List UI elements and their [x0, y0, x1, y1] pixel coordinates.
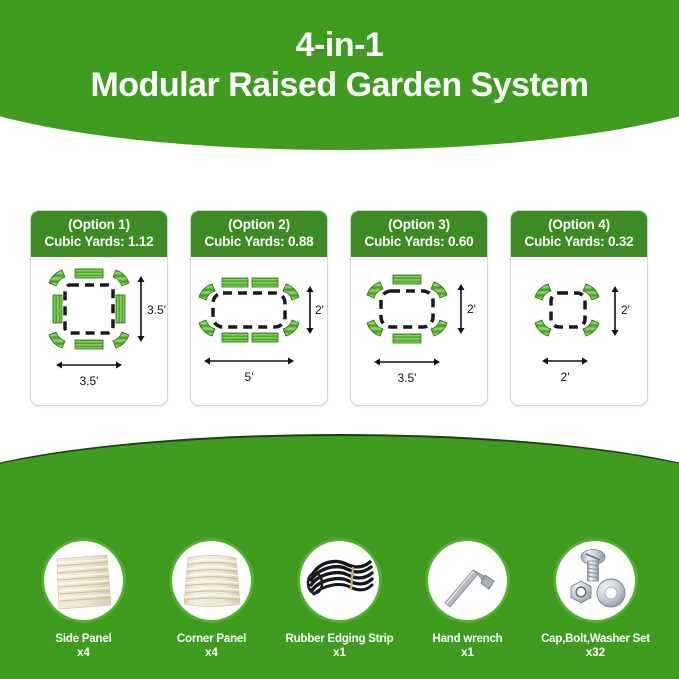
option-2-width-label: 5' — [245, 370, 254, 384]
part-side-panel[interactable]: Side Panel x4 — [31, 538, 137, 661]
part-side-panel-circle — [41, 538, 126, 623]
option-card-2-name: (Option 2) — [193, 216, 325, 233]
part-cap-bolt-washer-set-qty: x32 — [586, 646, 605, 661]
option-card-2-header: (Option 2) Cubic Yards: 0.88 — [191, 211, 327, 257]
part-corner-panel-circle — [169, 538, 254, 623]
part-rubber-edging-strip-qty: x1 — [333, 646, 346, 661]
part-rubber-edging-strip-circle — [297, 538, 382, 623]
option-card-3-name: (Option 3) — [353, 216, 485, 233]
hand-wrench-icon — [431, 543, 505, 617]
option-4-layout-svg: 2' 2' — [511, 257, 647, 405]
option-1-layout-svg: 3.5' 3.5' — [31, 257, 167, 405]
parts-row: Side Panel x4 — [0, 538, 679, 661]
part-cap-bolt-washer-set-label: Cap,Bolt,Washer Set — [541, 632, 650, 646]
header-banner: 4-in-1 Modular Raised Garden System — [0, 0, 679, 150]
option-card-1-header: (Option 1) Cubic Yards: 1.12 — [31, 211, 167, 257]
part-hand-wrench[interactable]: Hand wrench x1 — [415, 538, 521, 661]
option-3-width-label: 3.5' — [398, 371, 417, 385]
option-card-4-name: (Option 4) — [513, 216, 645, 233]
corner-panel-icon — [175, 543, 249, 617]
option-card-4-diagram: 2' 2' — [511, 257, 647, 405]
option-cards-row: (Option 1) Cubic Yards: 1.12 — [30, 210, 650, 406]
option-card-1-diagram: 3.5' 3.5' — [31, 257, 167, 405]
option-card-1-name: (Option 1) — [33, 216, 165, 233]
option-1-height-label: 3.5' — [147, 303, 166, 317]
part-rubber-edging-strip-label: Rubber Edging Strip — [286, 632, 394, 646]
side-panel-icon — [47, 543, 121, 617]
rubber-edging-icon — [303, 543, 377, 617]
part-cap-bolt-washer-set[interactable]: Cap,Bolt,Washer Set x32 — [543, 538, 649, 661]
option-2-height-label: 2' — [315, 303, 324, 317]
part-hand-wrench-circle — [425, 538, 510, 623]
option-4-width-label: 2' — [561, 370, 570, 384]
page-title-line1: 4-in-1 — [296, 26, 384, 64]
option-card-4-cubic-yards: Cubic Yards: 0.32 — [513, 233, 645, 250]
option-3-layout-svg: 2' 3.5' — [351, 257, 487, 405]
option-3-height-label: 2' — [467, 302, 476, 316]
page-title-line2: Modular Raised Garden System — [90, 66, 588, 104]
option-card-3-diagram: 2' 3.5' — [351, 257, 487, 405]
part-cap-bolt-washer-set-circle — [553, 538, 638, 623]
part-hand-wrench-qty: x1 — [461, 646, 474, 661]
part-hand-wrench-label: Hand wrench — [432, 632, 502, 646]
option-card-1[interactable]: (Option 1) Cubic Yards: 1.12 — [30, 210, 168, 406]
option-1-width-label: 3.5' — [80, 374, 99, 388]
option-card-3-header: (Option 3) Cubic Yards: 0.60 — [351, 211, 487, 257]
option-card-2-cubic-yards: Cubic Yards: 0.88 — [193, 233, 325, 250]
option-card-3[interactable]: (Option 3) Cubic Yards: 0.60 — [350, 210, 488, 406]
parts-panel: Side Panel x4 — [0, 434, 679, 679]
option-4-height-label: 2' — [621, 303, 630, 317]
bolt-washer-icon — [559, 543, 633, 617]
option-card-4[interactable]: (Option 4) Cubic Yards: 0.32 — [510, 210, 648, 406]
part-rubber-edging-strip[interactable]: Rubber Edging Strip x1 — [287, 538, 393, 661]
option-2-layout-svg: 2' 5' — [191, 257, 327, 405]
part-side-panel-label: Side Panel — [55, 632, 111, 646]
option-card-4-header: (Option 4) Cubic Yards: 0.32 — [511, 211, 647, 257]
option-card-1-cubic-yards: Cubic Yards: 1.12 — [33, 233, 165, 250]
option-card-2[interactable]: (Option 2) Cubic Yards: 0.88 — [190, 210, 328, 406]
part-corner-panel[interactable]: Corner Panel x4 — [159, 538, 265, 661]
part-corner-panel-label: Corner Panel — [177, 632, 246, 646]
part-corner-panel-qty: x4 — [205, 646, 218, 661]
part-side-panel-qty: x4 — [77, 646, 90, 661]
option-card-3-cubic-yards: Cubic Yards: 0.60 — [353, 233, 485, 250]
header-title-group: 4-in-1 Modular Raised Garden System — [0, 0, 679, 130]
option-card-2-diagram: 2' 5' — [191, 257, 327, 405]
